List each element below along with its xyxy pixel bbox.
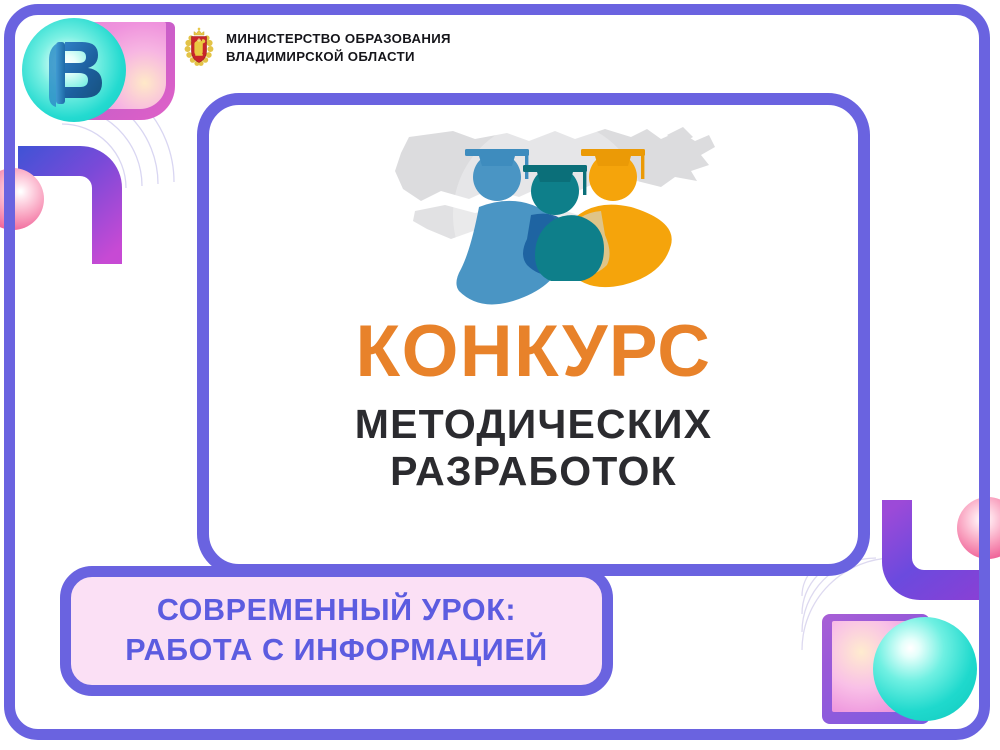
ministry-header: МИНИСТЕРСТВО ОБРАЗОВАНИЯ ВЛАДИМИРСКОЙ ОБ… bbox=[183, 27, 451, 69]
page-title: КОНКУРС bbox=[209, 315, 858, 388]
vladimir-institute-logo-icon bbox=[22, 18, 126, 122]
theme-badge-line-1: СОВРЕМЕННЫЙ УРОК: bbox=[157, 591, 516, 631]
page-subtitle: МЕТОДИЧЕСКИХ РАЗРАБОТОК bbox=[209, 401, 858, 494]
teal-sphere-icon bbox=[873, 617, 977, 721]
three-graduates-russia-map-icon bbox=[379, 115, 719, 315]
vladimir-region-coat-of-arms-icon bbox=[183, 27, 215, 69]
ministry-name-label: МИНИСТЕРСТВО ОБРАЗОВАНИЯ ВЛАДИМИРСКОЙ ОБ… bbox=[226, 30, 451, 65]
logo-b-glyph-icon bbox=[22, 18, 126, 122]
presentation-slide: МИНИСТЕРСТВО ОБРАЗОВАНИЯ ВЛАДИМИРСКОЙ ОБ… bbox=[0, 0, 1000, 750]
theme-badge-line-2: РАБОТА С ИНФОРМАЦИЕЙ bbox=[125, 631, 548, 671]
main-content-card: КОНКУРС МЕТОДИЧЕСКИХ РАЗРАБОТОК bbox=[197, 93, 870, 576]
theme-badge: СОВРЕМЕННЫЙ УРОК: РАБОТА С ИНФОРМАЦИЕЙ bbox=[60, 566, 613, 696]
